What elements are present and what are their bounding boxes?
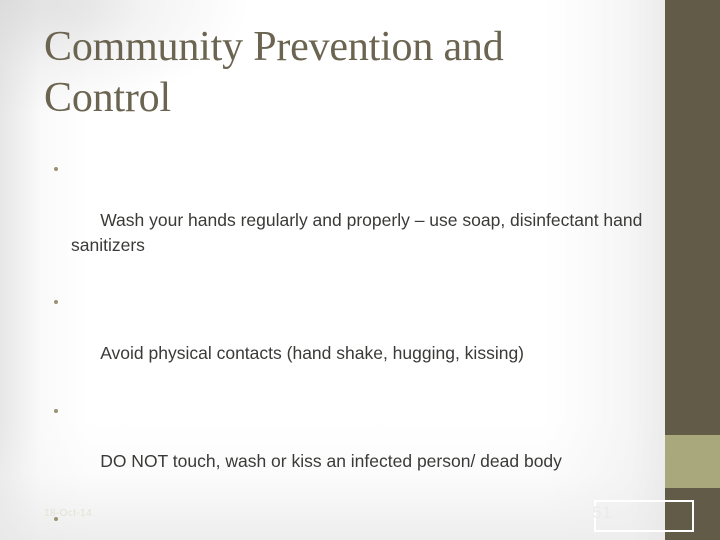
sidebar-band-sage	[665, 435, 720, 488]
list-item: Wash your hands regularly and properly –…	[48, 158, 653, 282]
list-item: Avoid physical contacts (hand shake, hug…	[48, 291, 653, 390]
slide-canvas: Community Prevention and Control Wash yo…	[0, 0, 720, 540]
bullet-list: Wash your hands regularly and properly –…	[48, 158, 653, 540]
slide-number: 51	[560, 503, 644, 523]
bullet-dot-icon	[54, 167, 58, 171]
list-item: DO NOT touch, wash or kiss an infected p…	[48, 400, 653, 499]
list-item-text: Wash your hands regularly and properly –…	[71, 210, 647, 255]
slide-title: Community Prevention and Control	[44, 22, 624, 124]
sidebar-band-dark-top	[665, 0, 720, 435]
footer-date: 18-Oct-14	[44, 508, 92, 519]
list-item-text: DO NOT touch, wash or kiss an infected p…	[100, 451, 562, 471]
bullet-dot-icon	[54, 409, 58, 413]
bullet-dot-icon	[54, 300, 58, 304]
list-item-text: Avoid physical contacts (hand shake, hug…	[100, 343, 524, 363]
